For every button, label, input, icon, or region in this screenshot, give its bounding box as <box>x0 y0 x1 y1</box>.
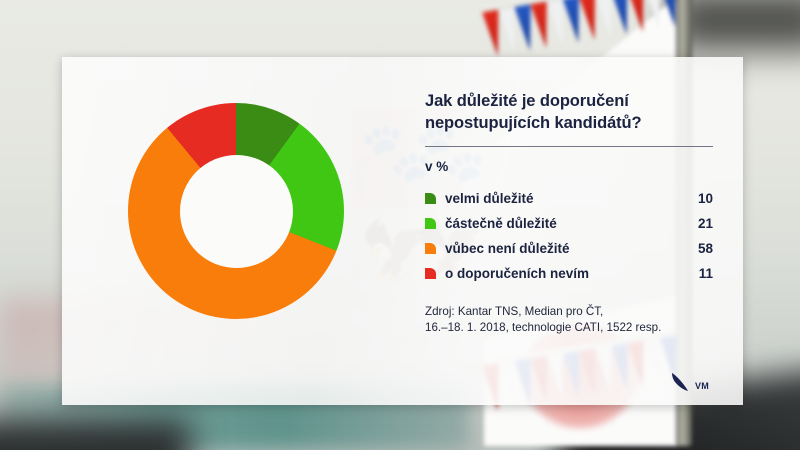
legend-label: o doporučeních nevím <box>445 266 679 281</box>
screenshot-stage: 🐾 🐾 🦅 🦅 Jak důležité je doporučení nepos… <box>0 0 800 450</box>
page-title: Jak důležité je doporučení nepostupující… <box>425 91 713 135</box>
legend-row: částečně důležité21 <box>425 211 713 236</box>
legend-label: velmi důležité <box>445 191 679 206</box>
legend-label: částečně důležité <box>445 216 679 231</box>
info-card: Jak důležité je doporučení nepostupující… <box>62 57 743 405</box>
chart-legend: velmi důležité10částečně důležité21vůbec… <box>425 186 713 286</box>
broadcaster-logo: VM <box>670 367 726 393</box>
unit-label: v % <box>425 159 713 174</box>
legend-swatch-icon <box>425 193 436 204</box>
background-corner-bottom-left <box>0 420 190 450</box>
legend-swatch-icon <box>425 268 436 279</box>
logo-text: VM <box>695 381 709 391</box>
legend-row: vůbec není důležité58 <box>425 236 713 261</box>
legend-value: 21 <box>679 216 713 231</box>
legend-row: velmi důležité10 <box>425 186 713 211</box>
legend-swatch-icon <box>425 243 436 254</box>
donut-center-hole <box>180 155 293 268</box>
legend-swatch-icon <box>425 218 436 229</box>
source-line-2: 16.–18. 1. 2018, technologie CATI, 1522 … <box>425 320 713 336</box>
title-divider <box>425 146 713 147</box>
legend-label: vůbec není důležité <box>445 241 679 256</box>
legend-value: 10 <box>679 191 713 206</box>
donut-chart <box>128 103 344 319</box>
legend-value: 58 <box>679 241 713 256</box>
swoosh-icon <box>670 371 694 393</box>
legend-value: 11 <box>679 266 713 281</box>
legend-row: o doporučeních nevím11 <box>425 261 713 286</box>
chart-info-panel: Jak důležité je doporučení nepostupující… <box>425 91 713 336</box>
source-line-1: Zdroj: Kantar TNS, Median pro ČT, <box>425 304 713 320</box>
source-note: Zdroj: Kantar TNS, Median pro ČT, 16.–18… <box>425 304 713 337</box>
